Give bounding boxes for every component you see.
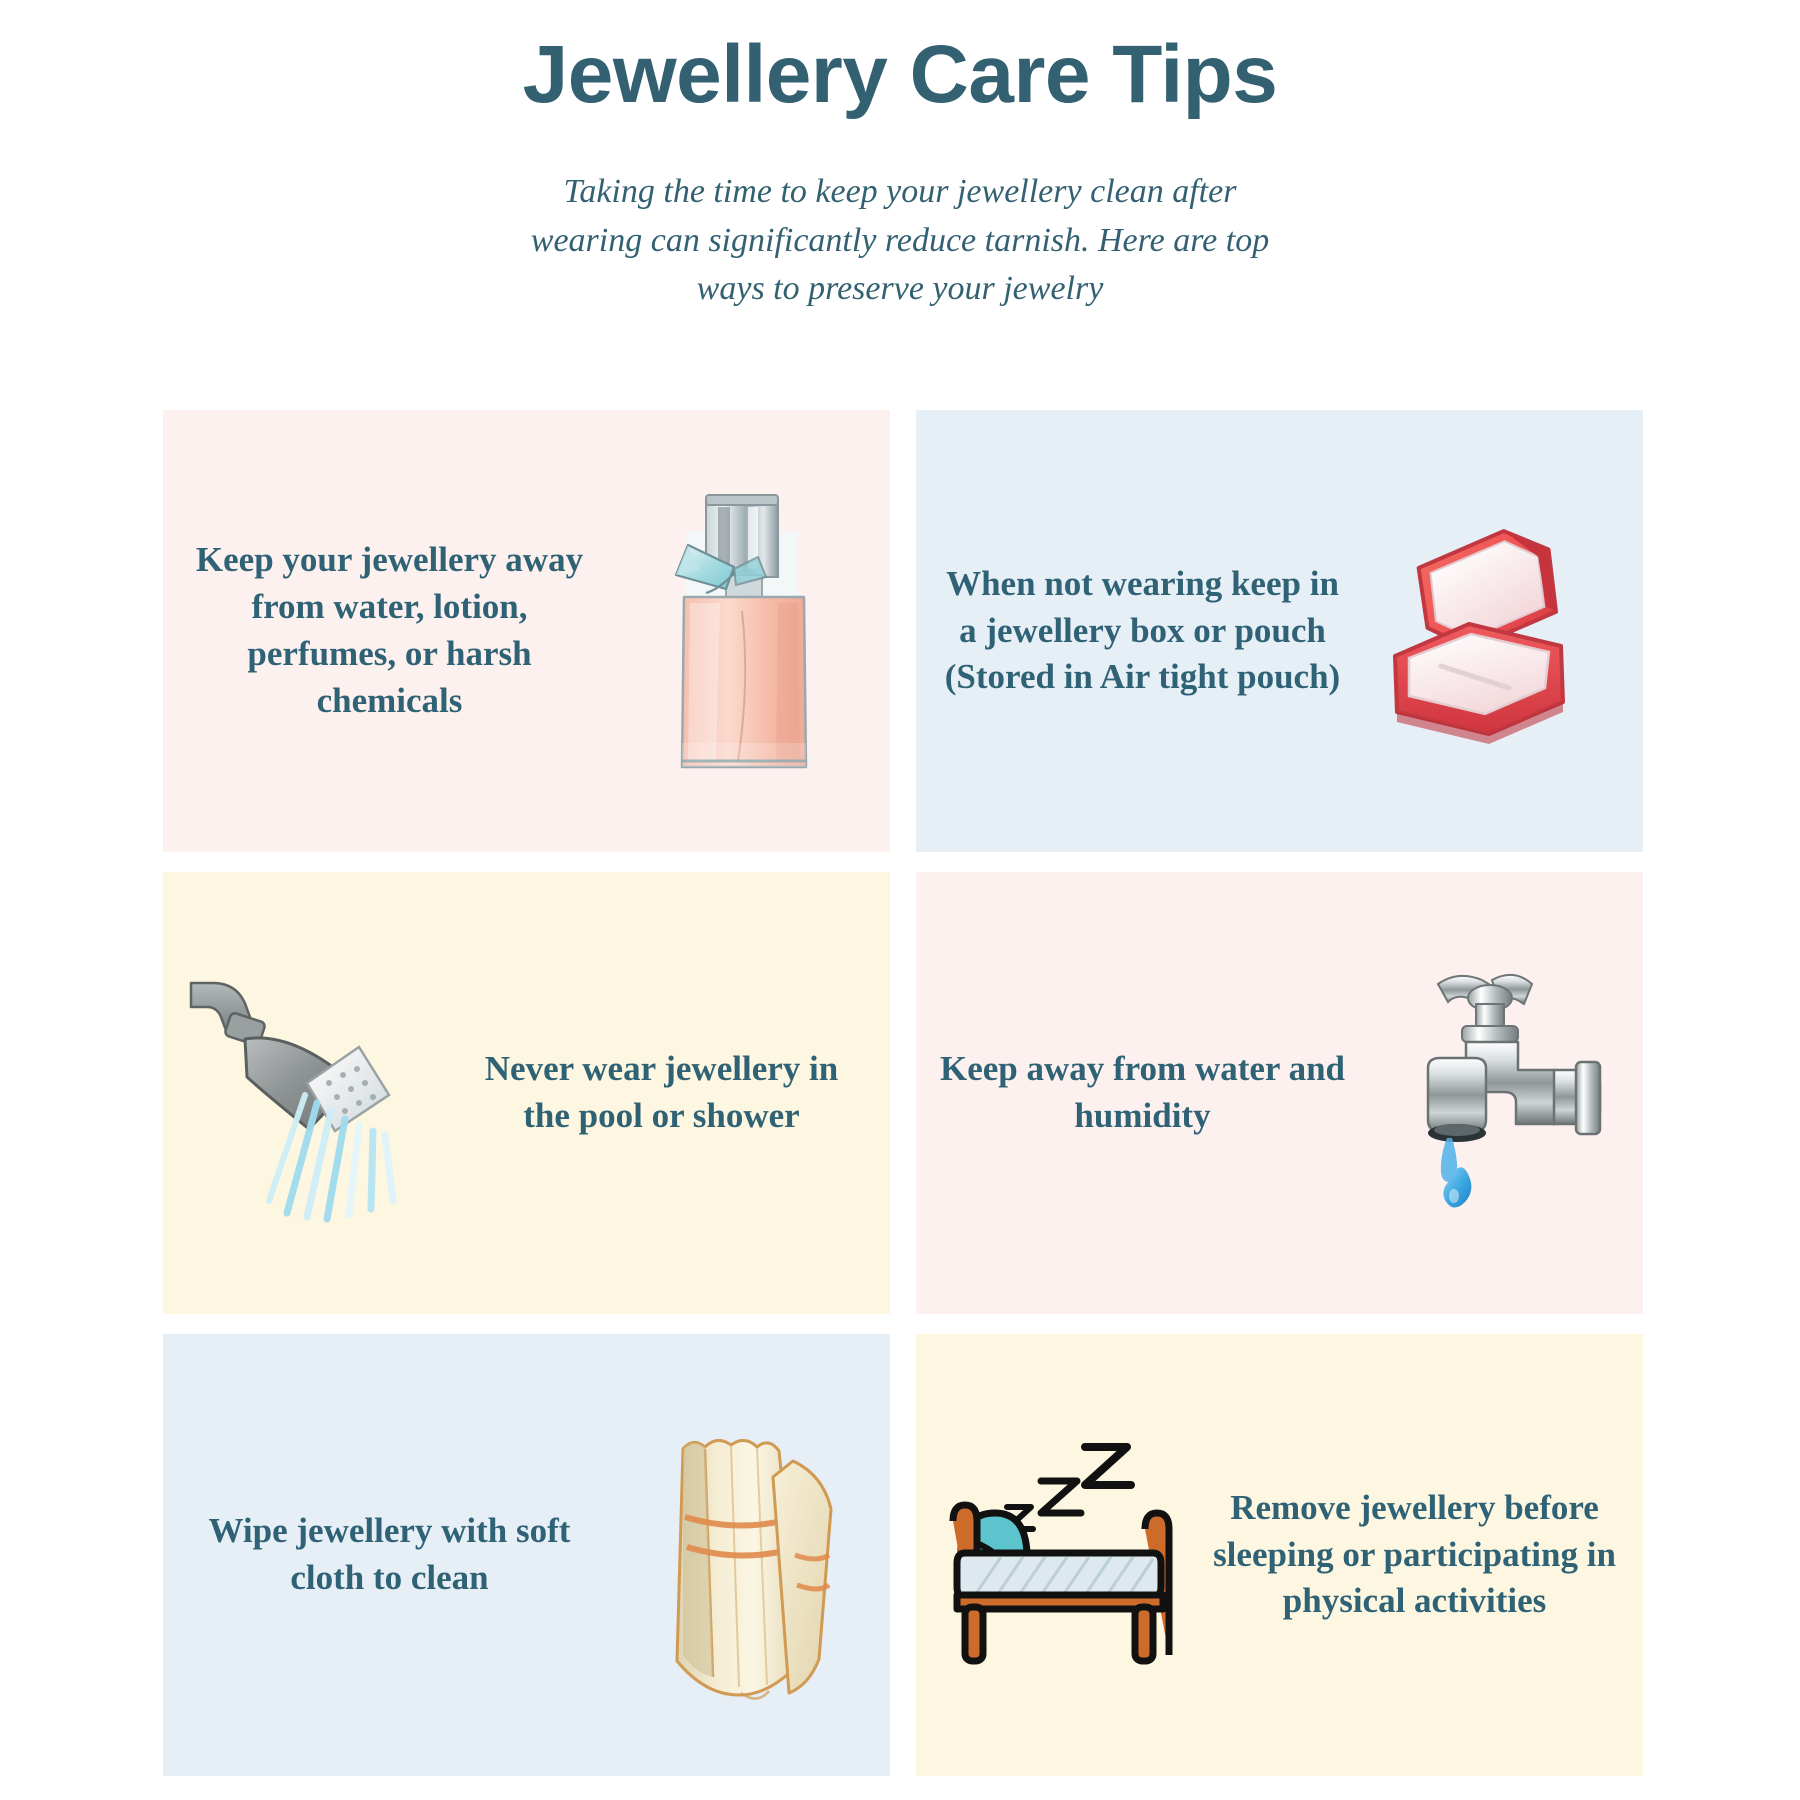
bed-sleeping-icon	[916, 1435, 1206, 1675]
page-title: Jewellery Care Tips	[0, 28, 1800, 122]
cloth-icon	[600, 1405, 890, 1705]
card-shower-text: Never wear jewellery in the pool or show…	[453, 1046, 890, 1140]
faucet-icon	[1353, 958, 1643, 1228]
ring-box-icon	[1353, 506, 1643, 756]
shower-head-icon	[163, 963, 453, 1223]
tips-grid: Keep your jewellery away from water, lot…	[163, 410, 1643, 1796]
card-humidity[interactable]: Keep away from water and humidity	[916, 872, 1643, 1314]
card-shower[interactable]: Never wear jewellery in the pool or show…	[163, 872, 890, 1314]
card-sleep-text: Remove jewellery before sleeping or part…	[1206, 1485, 1643, 1626]
card-humidity-text: Keep away from water and humidity	[916, 1046, 1353, 1140]
perfume-bottle-icon	[600, 471, 890, 791]
grid-cell: Keep away from water and humidity	[903, 872, 1643, 1334]
card-wipe-text: Wipe jewellery with soft cloth to clean	[163, 1508, 600, 1602]
card-sleep[interactable]: Remove jewellery before sleeping or part…	[916, 1334, 1643, 1776]
grid-cell: Wipe jewellery with soft cloth to clean	[163, 1334, 903, 1796]
card-chemicals-text: Keep your jewellery away from water, lot…	[163, 537, 600, 725]
infographic-page: Jewellery Care Tips Taking the time to k…	[0, 0, 1800, 1800]
card-storage[interactable]: When not wearing keep in a jewellery box…	[916, 410, 1643, 852]
card-wipe[interactable]: Wipe jewellery with soft cloth to clean	[163, 1334, 890, 1776]
grid-cell: Never wear jewellery in the pool or show…	[163, 872, 903, 1334]
grid-cell: When not wearing keep in a jewellery box…	[903, 410, 1643, 872]
page-subtitle: Taking the time to keep your jewellery c…	[505, 168, 1295, 313]
header: Jewellery Care Tips Taking the time to k…	[0, 0, 1800, 313]
card-storage-text: When not wearing keep in a jewellery box…	[916, 561, 1353, 702]
grid-cell: Keep your jewellery away from water, lot…	[163, 410, 903, 872]
card-chemicals[interactable]: Keep your jewellery away from water, lot…	[163, 410, 890, 852]
grid-cell: Remove jewellery before sleeping or part…	[903, 1334, 1643, 1796]
